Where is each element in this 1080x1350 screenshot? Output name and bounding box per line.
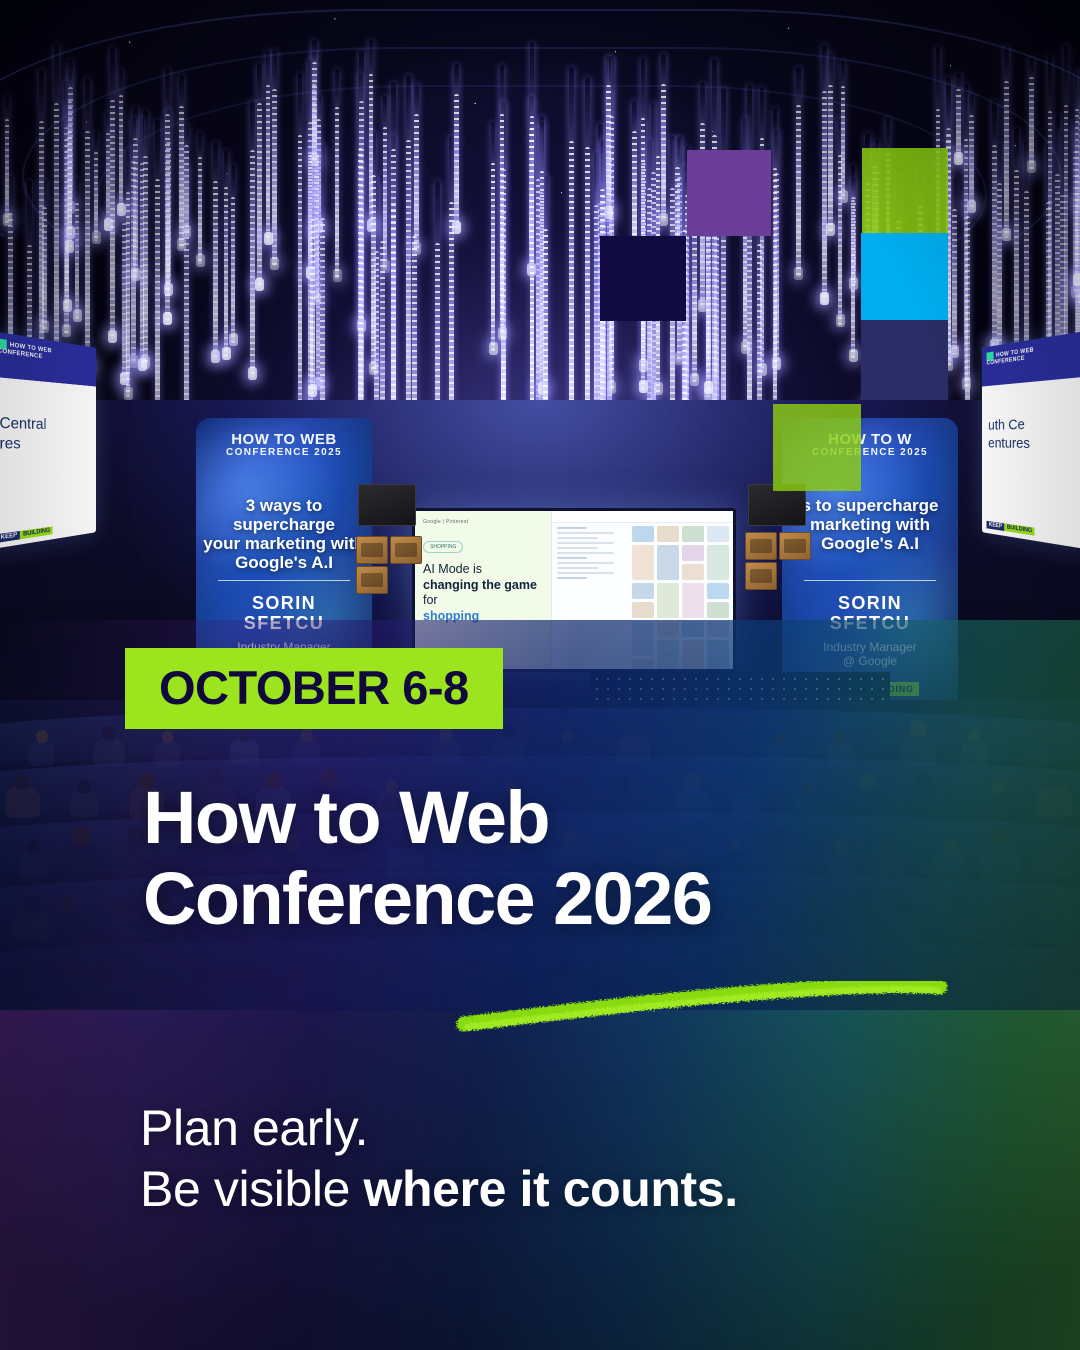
audience-person-head [1000, 897, 1015, 914]
slide-headline-bold: changing the game [423, 578, 537, 592]
led-tube [335, 69, 339, 279]
slide-image-thumb [632, 526, 654, 542]
slide-image-grid [628, 522, 733, 669]
audience-person-head [373, 959, 392, 980]
led-tube [106, 112, 110, 227]
audience-person-head [73, 826, 91, 846]
slide-headline-link: shopping [423, 609, 479, 623]
slide-text-line [557, 542, 614, 544]
led-right-role-line1: Industry Manager [782, 640, 958, 654]
audience-person [14, 909, 50, 942]
color-block-navy [861, 320, 948, 400]
led-left-speaker-last: SFETCU [196, 614, 372, 634]
led-right-talk-line3: Google's A.I [788, 534, 952, 553]
slide-image-thumb [657, 526, 679, 542]
date-badge-label: OCTOBER 6-8 [159, 664, 469, 711]
audience-person [417, 984, 450, 1015]
stage-crate-left-3 [356, 566, 388, 594]
led-tube-tip [1002, 228, 1011, 241]
side-left-badge-keep: KEEP [0, 531, 20, 543]
led-tube [165, 68, 170, 322]
led-tube [250, 100, 255, 378]
led-right-role-line2: @ Google [782, 654, 958, 668]
audience-person [1021, 738, 1051, 766]
audience-person-head [372, 732, 383, 744]
color-block-green-lower [773, 404, 861, 491]
led-tube [85, 78, 90, 370]
audience-person-head [162, 731, 173, 743]
audience-person [94, 738, 125, 766]
audience-person-head [626, 723, 640, 739]
slide-text-line [557, 567, 598, 569]
audience-person [1042, 977, 1080, 1015]
led-tube [213, 142, 218, 360]
led-tube [530, 42, 534, 453]
audience-person [1038, 906, 1078, 943]
led-tube [54, 44, 59, 371]
led-tube [298, 73, 302, 419]
slide-headline: AI Mode is changing the game for shoppin… [423, 562, 544, 624]
led-tube [500, 65, 504, 337]
slide-image-thumb [707, 526, 729, 542]
audience-person-head [1002, 966, 1018, 984]
slide-headline-part2: for [423, 593, 438, 607]
slide-text-line [557, 572, 614, 574]
slide-text-line [557, 557, 587, 559]
audience-person-head [98, 962, 116, 982]
audience-person-head [233, 963, 251, 982]
audience-person-head [1050, 890, 1068, 910]
tagline-line-2-regular: Be visible [140, 1161, 363, 1217]
led-tube-tip [73, 309, 82, 322]
audience-person [991, 911, 1025, 943]
led-tube [454, 64, 459, 230]
led-left-divider [218, 580, 350, 581]
slide-shopping-chip: SHOPPING [423, 541, 463, 553]
led-tube [1004, 46, 1009, 238]
side-screen-text-line1-right: uth Ce [988, 414, 1078, 435]
audience-person-head [238, 728, 251, 742]
tagline-line-2: Be visible where it counts. [140, 1159, 1020, 1220]
led-tube [491, 122, 495, 351]
led-tube [133, 107, 138, 278]
audience-person-head [834, 729, 846, 743]
led-tube [1075, 71, 1079, 283]
led-tube [371, 132, 376, 373]
led-tube-tip [308, 384, 317, 397]
slide-image-thumb [657, 583, 679, 618]
audience-person-head [36, 730, 48, 743]
led-tube [231, 165, 235, 343]
slide-left-column: Google | Pinterest SHOPPING AI Mode is c… [415, 511, 552, 669]
audience-person-head [775, 732, 786, 744]
audience-person [137, 983, 171, 1015]
stage-crate-right-1 [745, 532, 777, 560]
led-tube [143, 110, 148, 366]
audience-person-head [440, 728, 453, 742]
audience-person [61, 842, 101, 879]
slide-image-thumb [682, 526, 704, 542]
slide-text-line [557, 527, 587, 529]
slide-image-thumb [707, 545, 729, 580]
audience-person [946, 978, 987, 1015]
slide-image-thumb [707, 583, 729, 599]
audience-person [280, 981, 316, 1014]
led-tube-tip [1073, 273, 1080, 286]
side-right-badge-keep: KEEP [987, 521, 1005, 531]
led-right-divider [804, 580, 936, 581]
led-tube-tip [659, 213, 668, 226]
audience-person [1037, 786, 1072, 818]
slide-headline-part1: AI Mode is [423, 562, 482, 576]
led-tube [956, 73, 961, 162]
led-tube-tip [954, 152, 963, 165]
side-screen-band-text-left: HOW TO WEB CONFERENCE [0, 342, 52, 360]
led-tube-tip [124, 387, 133, 400]
slide-image-thumb [707, 640, 729, 672]
led-tube [257, 63, 262, 287]
led-left-speaker-first: SORIN [196, 594, 372, 614]
tagline: Plan early. Be visible where it counts. [140, 1098, 1020, 1220]
led-tube-tip [849, 349, 858, 362]
audience-person [321, 978, 361, 1015]
audience-person-head [1054, 961, 1072, 981]
led-tube [198, 133, 202, 264]
audience-person-head [702, 728, 715, 742]
audience-person-head [1029, 726, 1042, 741]
led-tube [606, 56, 611, 217]
led-right-talk-line2: marketing with [788, 515, 952, 534]
page-title: How to Web Conference 2026 [143, 778, 963, 939]
side-screen-text-right: uth Ce entures [982, 377, 1080, 455]
headline-line-1: How to Web [143, 778, 963, 859]
led-tube [796, 67, 801, 277]
led-tube [126, 147, 130, 397]
color-block-dark-navy [600, 236, 686, 321]
led-tube-tip [131, 268, 140, 281]
audience-person-head [333, 962, 351, 981]
led-tube-tip [163, 312, 172, 325]
led-tube-tip [836, 314, 845, 327]
audience-person-head [300, 728, 313, 742]
led-tube-tip [141, 356, 150, 369]
stage-crate-left-2 [390, 536, 422, 564]
side-mirror-screen-left: HOW TO WEB CONFERENCE Central res KEEPBU… [0, 331, 96, 550]
side-screen-band-text-right: HOW TO WEB CONFERENCE [987, 348, 1034, 367]
led-tube-tip [129, 355, 138, 368]
led-tube-tip [489, 342, 498, 355]
led-tube-tip [950, 345, 959, 358]
led-tube-tip [1027, 160, 1036, 173]
slide-logo: Google | Pinterest [423, 519, 544, 525]
audience-person [5, 786, 40, 818]
audience-person [361, 976, 404, 1016]
slide-text-line [557, 532, 614, 534]
led-tube-tip [607, 381, 616, 394]
slide-image-thumb [682, 640, 704, 672]
audience-person-head [426, 971, 441, 987]
led-tube-tip [498, 327, 507, 340]
slide-image-thumb [632, 545, 654, 580]
led-left-talk-line1: 3 ways to supercharge [202, 496, 366, 534]
led-tube-tip [222, 347, 231, 360]
audience-person [1037, 845, 1073, 878]
stage-crate-left-1 [356, 536, 388, 564]
led-tube-tip [639, 380, 648, 393]
slide-image-thumb [657, 621, 679, 637]
led-tube [75, 178, 79, 319]
led-right-talk-line1: s to supercharge [788, 496, 952, 515]
led-tube-tip [92, 231, 101, 244]
slide-text-line [557, 562, 614, 564]
led-tube-tip [604, 206, 613, 219]
led-tube-tip [255, 278, 264, 291]
led-tube [828, 53, 833, 232]
slide-text-column [552, 522, 628, 669]
color-block-cyan [861, 233, 948, 320]
slide-image-thumb [632, 659, 654, 672]
led-tube-tip [229, 333, 238, 346]
audience-person [110, 912, 143, 942]
led-tube-tip [794, 267, 803, 280]
led-tube [94, 132, 98, 242]
audience-person [991, 981, 1028, 1015]
slide-image-thumb [707, 602, 729, 618]
led-tube-tip [117, 203, 126, 216]
led-tube-tip [270, 257, 279, 270]
stage-crate-right-3 [745, 562, 777, 590]
led-tube [641, 58, 645, 391]
led-tube [224, 150, 228, 357]
led-tube-tip [108, 330, 117, 343]
led-tube [851, 165, 855, 358]
led-tube [838, 118, 842, 325]
audience-person [181, 976, 223, 1015]
audience-person [961, 740, 989, 766]
audience-person [70, 791, 99, 817]
led-left-header-line2: CONFERENCE 2025 [196, 448, 372, 459]
audience-person-head [16, 956, 36, 978]
side-screen-text-line1-left: Central [0, 414, 90, 435]
slide-browser-body [552, 522, 733, 669]
led-left-header-line1: HOW TO WEB [196, 432, 372, 448]
led-tube-tip [820, 292, 829, 305]
audience-person-head [119, 899, 133, 915]
line-array-speaker-left [358, 484, 416, 526]
led-tube [1029, 57, 1034, 170]
audience-person-head [1047, 773, 1062, 790]
led-tube-tip [63, 299, 72, 312]
audience-person [48, 977, 89, 1015]
side-screen-text-line2-right: entures [988, 434, 1078, 454]
led-tube [5, 96, 9, 223]
led-left-speaker-name: SORIN SFETCU [196, 594, 372, 634]
side-screen-text-left: Central res [0, 377, 96, 455]
slide-image-thumb [657, 545, 679, 580]
led-tube-tip [369, 362, 378, 375]
side-screen-text-line2-left: res [0, 434, 90, 454]
audience-person-head [290, 967, 306, 985]
led-tube-tip [62, 324, 71, 337]
led-tube [42, 180, 47, 330]
led-right-talk-title: s to supercharge marketing with Google's… [788, 496, 952, 553]
slide-right-column [551, 511, 733, 669]
slide-image-thumb [682, 583, 704, 618]
slide-image-thumb [682, 564, 704, 580]
side-right-badge-building: BUILDING [1004, 523, 1034, 535]
led-tube [661, 54, 666, 222]
slide-image-thumb [632, 602, 654, 618]
audience-person-head [14, 773, 29, 790]
led-tube [997, 144, 1002, 359]
audience-person-head [27, 840, 40, 854]
led-tube [952, 177, 957, 355]
slide-text-line [557, 552, 614, 554]
led-tube-tip [65, 240, 74, 253]
color-block-purple [687, 150, 771, 236]
led-left-talk-line2: your marketing with [202, 534, 366, 553]
audience-person-head [146, 969, 161, 986]
audience-person [86, 978, 127, 1015]
led-tube-tip [690, 373, 699, 386]
audience-person-head [968, 729, 980, 742]
audience-person [3, 974, 49, 1016]
audience-person [52, 910, 87, 942]
led-tube [266, 51, 270, 242]
slide-text-line [557, 537, 598, 539]
led-tube-tip [704, 381, 713, 394]
led-right-speaker-first: SORIN [782, 594, 958, 614]
slide-text-line [557, 547, 598, 549]
audience-person-head [502, 724, 516, 740]
tagline-line-1: Plan early. [140, 1098, 1020, 1159]
led-tube-tip [826, 223, 835, 236]
led-tube-tip [40, 320, 49, 333]
audience-person-head [193, 960, 212, 981]
conference-promo-poster: HOW TO WEB CONFERENCE 2025 3 ways to sup… [0, 0, 1080, 1350]
headline-line-2: Conference 2026 [143, 859, 963, 940]
brush-stroke-underline [452, 968, 952, 1038]
led-tube [67, 105, 72, 251]
side-mirror-screen-right: HOW TO WEB CONFERENCE uth Ce entures KEE… [982, 331, 1080, 550]
audience-person [222, 978, 262, 1015]
audience-person-head [78, 780, 91, 794]
slide-image-thumb [632, 621, 654, 656]
slide-image-thumb [682, 621, 704, 637]
led-tube [1064, 45, 1068, 380]
led-tube-tip [741, 341, 750, 354]
brush-stroke-path-group [464, 986, 940, 1028]
led-tube-tip [196, 254, 205, 267]
led-tube [773, 108, 777, 440]
led-tube-tip [654, 382, 663, 395]
led-tube [119, 69, 123, 214]
slide-text-line [557, 577, 587, 579]
audience-person-head [991, 828, 1008, 847]
audience-person-head [59, 961, 77, 981]
led-tube-tip [177, 238, 186, 251]
audience-person-head [102, 726, 116, 741]
color-block-green-top [862, 148, 948, 234]
led-left-talk-line3: Google's A.I [202, 553, 366, 572]
led-left-talk-title: 3 ways to supercharge your marketing wit… [202, 496, 366, 572]
led-tube-tip [3, 213, 12, 226]
led-tube [179, 75, 184, 249]
audience-person-head [562, 730, 574, 743]
date-badge: OCTOBER 6-8 [125, 648, 503, 729]
led-tube-tip [333, 269, 342, 282]
led-tube [822, 45, 827, 302]
slide-image-thumb [657, 640, 679, 672]
stage-crate-right-2 [779, 532, 811, 560]
side-left-badge-building: BUILDING [20, 526, 53, 539]
audience-person-head [1047, 831, 1063, 849]
slide-image-thumb [707, 621, 729, 637]
led-tube-tip [248, 367, 257, 380]
audience-person [980, 844, 1019, 880]
audience-person [28, 741, 55, 766]
audience-person-head [61, 896, 77, 913]
led-tube [310, 180, 315, 394]
led-tube [312, 40, 317, 162]
audience-person-head [992, 780, 1005, 794]
led-tube [1014, 128, 1019, 359]
slide-image-thumb [632, 583, 654, 599]
led-right-speaker-role: Industry Manager @ Google [782, 640, 958, 669]
led-tube [406, 75, 411, 435]
led-left-header: HOW TO WEB CONFERENCE 2025 [196, 432, 372, 459]
led-tube [110, 47, 115, 339]
led-right-speaker-last: SFETCU [782, 614, 958, 634]
led-right-speaker-name: SORIN SFETCU [782, 594, 958, 634]
audience-person [984, 792, 1012, 818]
tagline-line-2-bold: where it counts. [363, 1161, 737, 1217]
audience-person [19, 851, 48, 878]
led-tube-tip [264, 232, 273, 245]
audience-person-head [910, 720, 926, 737]
led-tube-tip [211, 350, 220, 363]
audience-person-head [24, 895, 40, 913]
audience-person-head [957, 962, 975, 982]
slide-image-thumb [682, 545, 704, 561]
